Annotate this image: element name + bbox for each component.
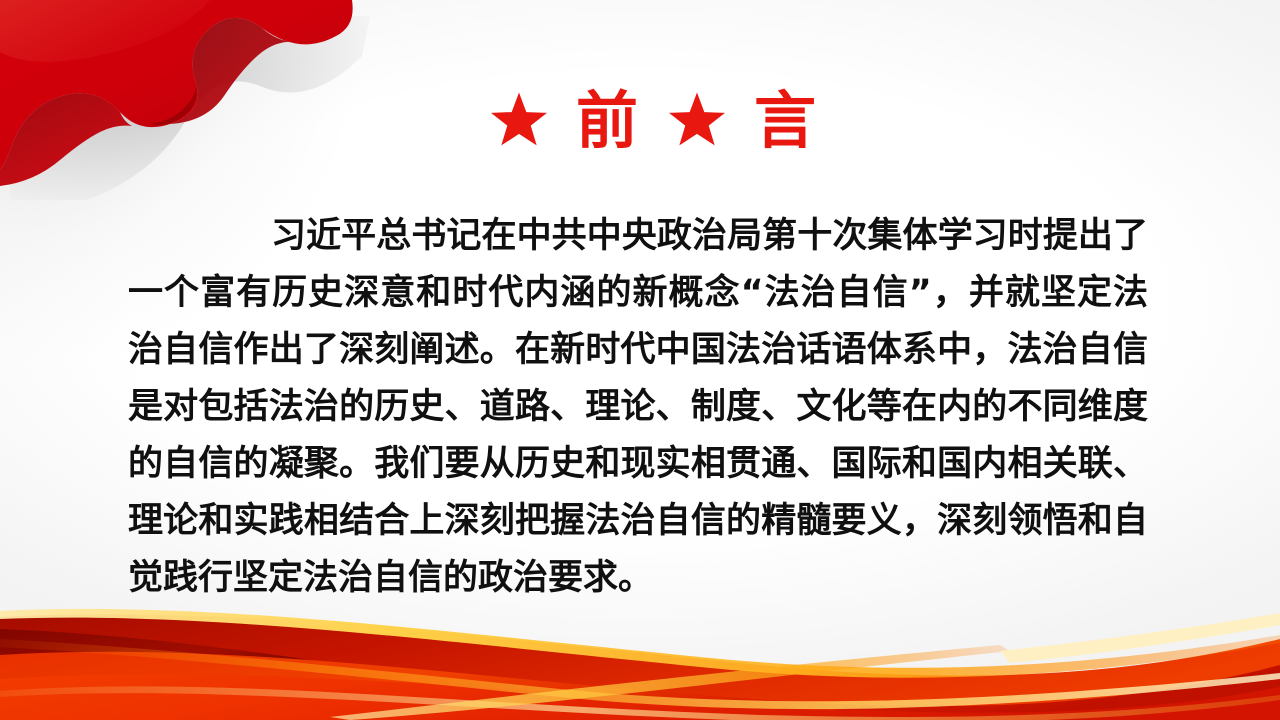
red-star-icon-left	[488, 90, 550, 152]
title-char-yan: 言	[754, 80, 818, 162]
body-paragraph: 习近平总书记在中共中央政治局第十次集体学习时提出了一个富有历史深意和时代内涵的新…	[128, 208, 1148, 607]
title-char-qian: 前	[576, 80, 640, 162]
red-star-icon-right	[666, 90, 728, 152]
slide-title: 前言	[420, 80, 860, 162]
slide-canvas: 前言 习近平总书记在中共中央政治局第十次集体学习时提出了一个富有历史深意和时代内…	[0, 0, 1280, 720]
